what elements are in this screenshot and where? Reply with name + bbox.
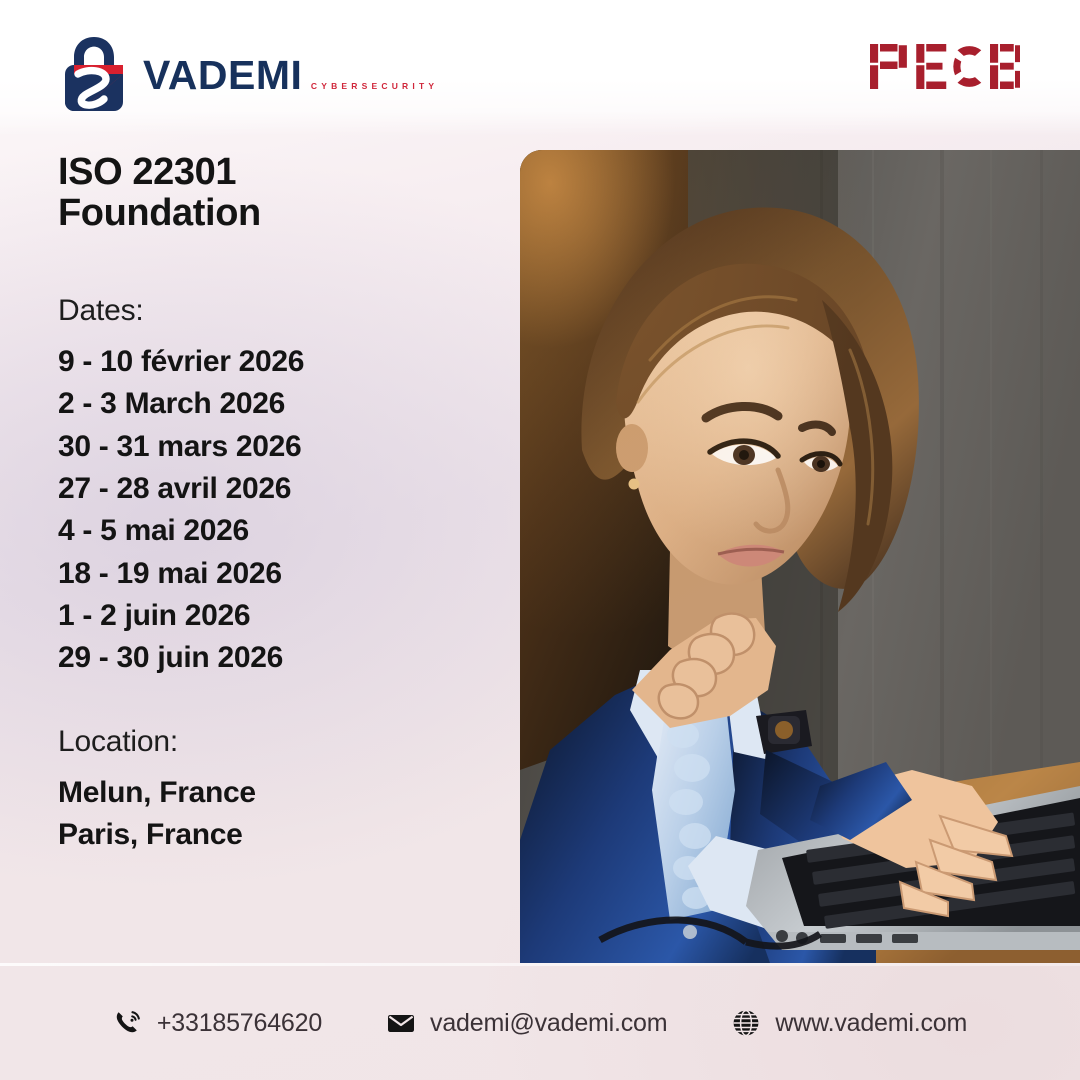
- phone-number: +33185764620: [157, 1009, 322, 1038]
- pecb-logo: [870, 44, 1020, 89]
- list-item: 4 - 5 mai 2026: [58, 510, 508, 552]
- website-url: www.vademi.com: [775, 1009, 967, 1038]
- brand-wordmark: VADEMI CYBERSECURITY: [143, 51, 438, 96]
- list-item: 29 - 30 juin 2026: [58, 637, 508, 679]
- list-item: 9 - 10 février 2026: [58, 341, 508, 383]
- page-title: ISO 22301 Foundation: [58, 152, 508, 234]
- list-item: Paris, France: [58, 814, 508, 856]
- contact-phone[interactable]: +33185764620: [113, 1008, 322, 1038]
- phone-icon: [113, 1008, 143, 1038]
- course-info-panel: ISO 22301 Foundation Dates: 9 - 10 févri…: [58, 152, 508, 856]
- dates-list: 9 - 10 février 2026 2 - 3 March 2026 30 …: [58, 341, 508, 679]
- dates-label: Dates:: [58, 294, 508, 327]
- location-list: Melun, France Paris, France: [58, 772, 508, 856]
- header-band: VADEMI CYBERSECURITY: [0, 0, 1080, 136]
- padlock-logo-icon: [58, 33, 130, 113]
- contact-email[interactable]: vademi@vademi.com: [386, 1008, 667, 1038]
- list-item: 30 - 31 mars 2026: [58, 426, 508, 468]
- list-item: Melun, France: [58, 772, 508, 814]
- footer-contact-bar: +33185764620 vademi@vademi.com: [0, 966, 1080, 1080]
- businesswoman-at-laptop-photo: [520, 150, 1080, 963]
- globe-icon: [731, 1008, 761, 1038]
- list-item: 1 - 2 juin 2026: [58, 595, 508, 637]
- contact-website[interactable]: www.vademi.com: [731, 1008, 967, 1038]
- email-address: vademi@vademi.com: [430, 1009, 667, 1038]
- list-item: 27 - 28 avril 2026: [58, 468, 508, 510]
- location-label: Location:: [58, 725, 508, 758]
- list-item: 2 - 3 March 2026: [58, 383, 508, 425]
- training-announcement-card: VADEMI CYBERSECURITY: [0, 0, 1080, 1080]
- list-item: 18 - 19 mai 2026: [58, 553, 508, 595]
- brand-logo: VADEMI CYBERSECURITY: [58, 33, 438, 113]
- envelope-icon: [386, 1008, 416, 1038]
- brand-name: VADEMI: [143, 52, 302, 98]
- brand-tagline: CYBERSECURITY: [307, 81, 438, 91]
